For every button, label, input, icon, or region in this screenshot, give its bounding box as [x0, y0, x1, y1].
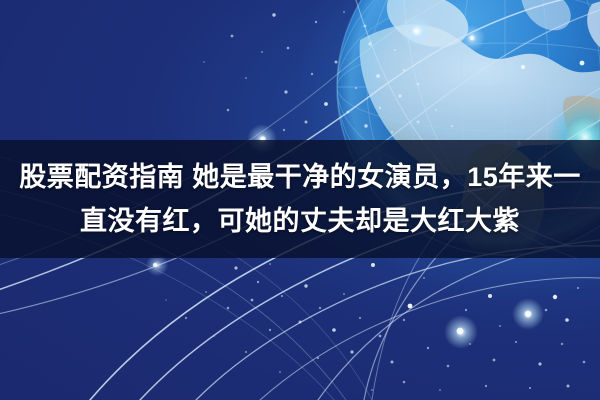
headline-block: 股票配资指南 她是最干净的女演员，15年来一 直没有红，可她的丈夫却是大红大紫: [0, 140, 600, 258]
headline-line-1: 股票配资指南 她是最干净的女演员，15年来一: [19, 155, 581, 199]
news-banner-image: 股票配资指南 她是最干净的女演员，15年来一 直没有红，可她的丈夫却是大红大紫: [0, 0, 600, 400]
headline-line-2: 直没有红，可她的丈夫却是大红大紫: [80, 199, 520, 243]
